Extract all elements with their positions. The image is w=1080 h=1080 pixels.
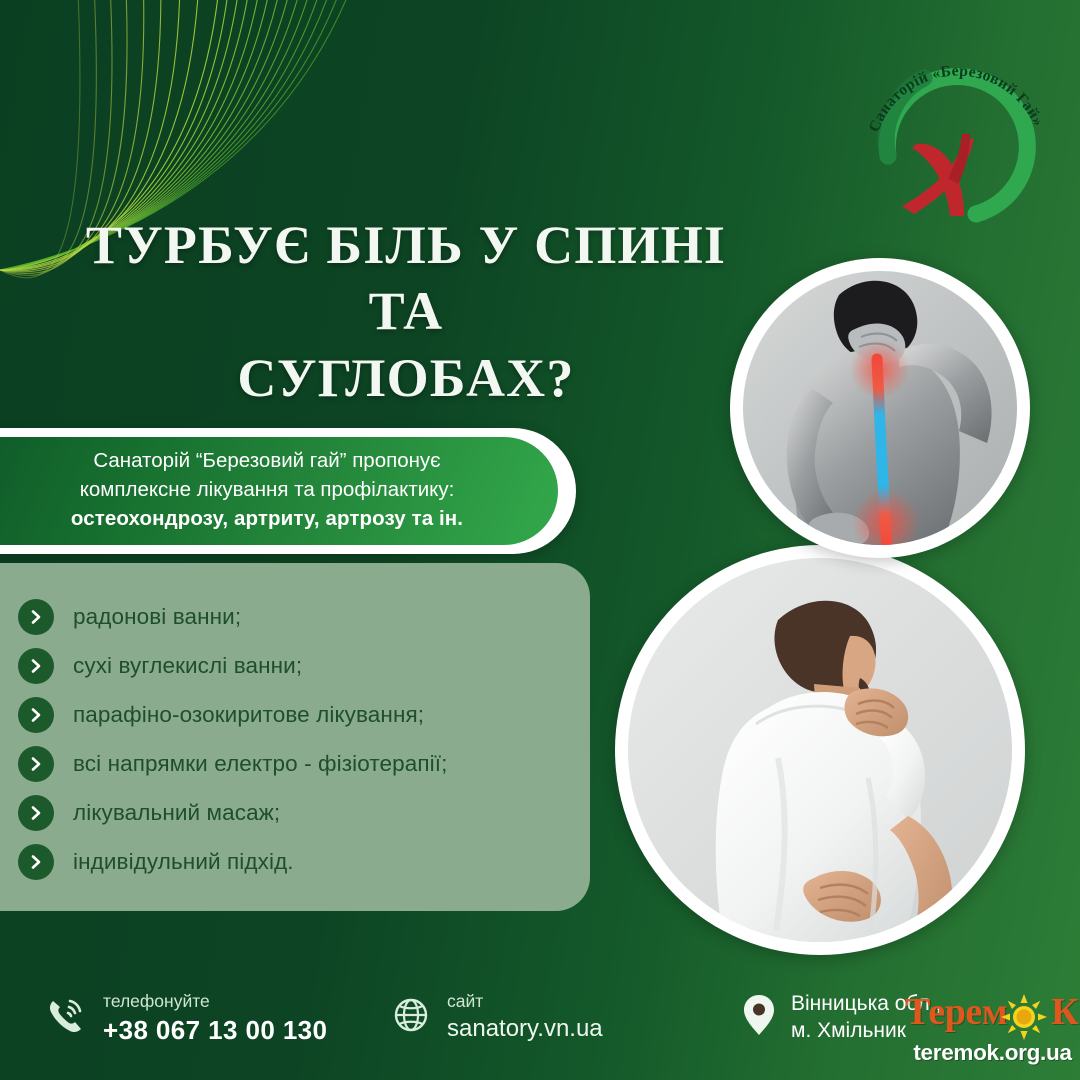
phone-number[interactable]: +38 067 13 00 130: [103, 1015, 327, 1046]
chevron-right-icon: [18, 795, 54, 831]
chevron-right-icon: [18, 746, 54, 782]
globe-icon: [390, 994, 432, 1041]
offer-callout: Санаторій “Березовий гай” пропонує компл…: [0, 437, 558, 545]
sun-icon: [1001, 994, 1047, 1040]
contact-website[interactable]: сайт sanatory.vn.ua: [390, 991, 603, 1044]
phone-caption: телефонуйте: [103, 991, 327, 1013]
poster-root: Санаторій «Березовий Гай» ТУРБУЄ БІЛЬ У …: [0, 0, 1080, 1080]
page-title: ТУРБУЄ БІЛЬ У СПИНІ ТА СУГЛОБАХ?: [56, 212, 756, 411]
phone-icon: [42, 993, 88, 1044]
chevron-right-icon: [18, 648, 54, 684]
contact-phone[interactable]: телефонуйте +38 067 13 00 130: [42, 991, 327, 1046]
chevron-right-icon: [18, 844, 54, 880]
location-pin-icon: [742, 993, 776, 1042]
service-label: всі напрямки електро - фізіотерапії;: [73, 751, 447, 777]
service-label: радонові ванни;: [73, 604, 241, 630]
teremok-url: teremok.org.ua: [905, 1040, 1080, 1066]
offer-callout-frame: Санаторій “Березовий гай” пропонує компл…: [0, 428, 576, 554]
services-list: радонові ванни; сухі вуглекислі ванни; п…: [18, 592, 598, 886]
list-item: радонові ванни;: [18, 592, 598, 641]
shoulder-back-pain-photo: [615, 545, 1025, 955]
offer-line-3: остеохондрозу, артриту, артрозу та ін.: [18, 504, 516, 533]
offer-line-1: Санаторій “Березовий гай” пропонує: [18, 446, 516, 475]
service-label: індивідульний підхід.: [73, 849, 294, 875]
logo-figure-mark: [902, 134, 974, 216]
service-label: парафіно-озокиритове лікування;: [73, 702, 424, 728]
teremok-brand: ТеремК: [905, 990, 1080, 1034]
spine-pain-photo: [730, 258, 1030, 558]
list-item: всі напрямки електро - фізіотерапії;: [18, 739, 598, 788]
service-label: лікувальний масаж;: [73, 800, 280, 826]
list-item: парафіно-озокиритове лікування;: [18, 690, 598, 739]
service-label: сухі вуглекислі ванни;: [73, 653, 302, 679]
list-item: сухі вуглекислі ванни;: [18, 641, 598, 690]
chevron-right-icon: [18, 599, 54, 635]
website-caption: сайт: [447, 991, 603, 1013]
list-item: індивідульний підхід.: [18, 837, 598, 886]
teremok-watermark: ТеремК teremok.org.ua: [905, 988, 1080, 1076]
sanatorium-logo: Санаторій «Березовий Гай»: [858, 38, 1054, 228]
headline-line-1: ТУРБУЄ БІЛЬ У СПИНІ ТА: [56, 212, 756, 345]
headline-line-2: СУГЛОБАХ?: [56, 345, 756, 411]
list-item: лікувальний масаж;: [18, 788, 598, 837]
offer-line-2: комплексне лікування та профілактику:: [18, 475, 516, 504]
website-url[interactable]: sanatory.vn.ua: [447, 1015, 603, 1044]
chevron-right-icon: [18, 697, 54, 733]
